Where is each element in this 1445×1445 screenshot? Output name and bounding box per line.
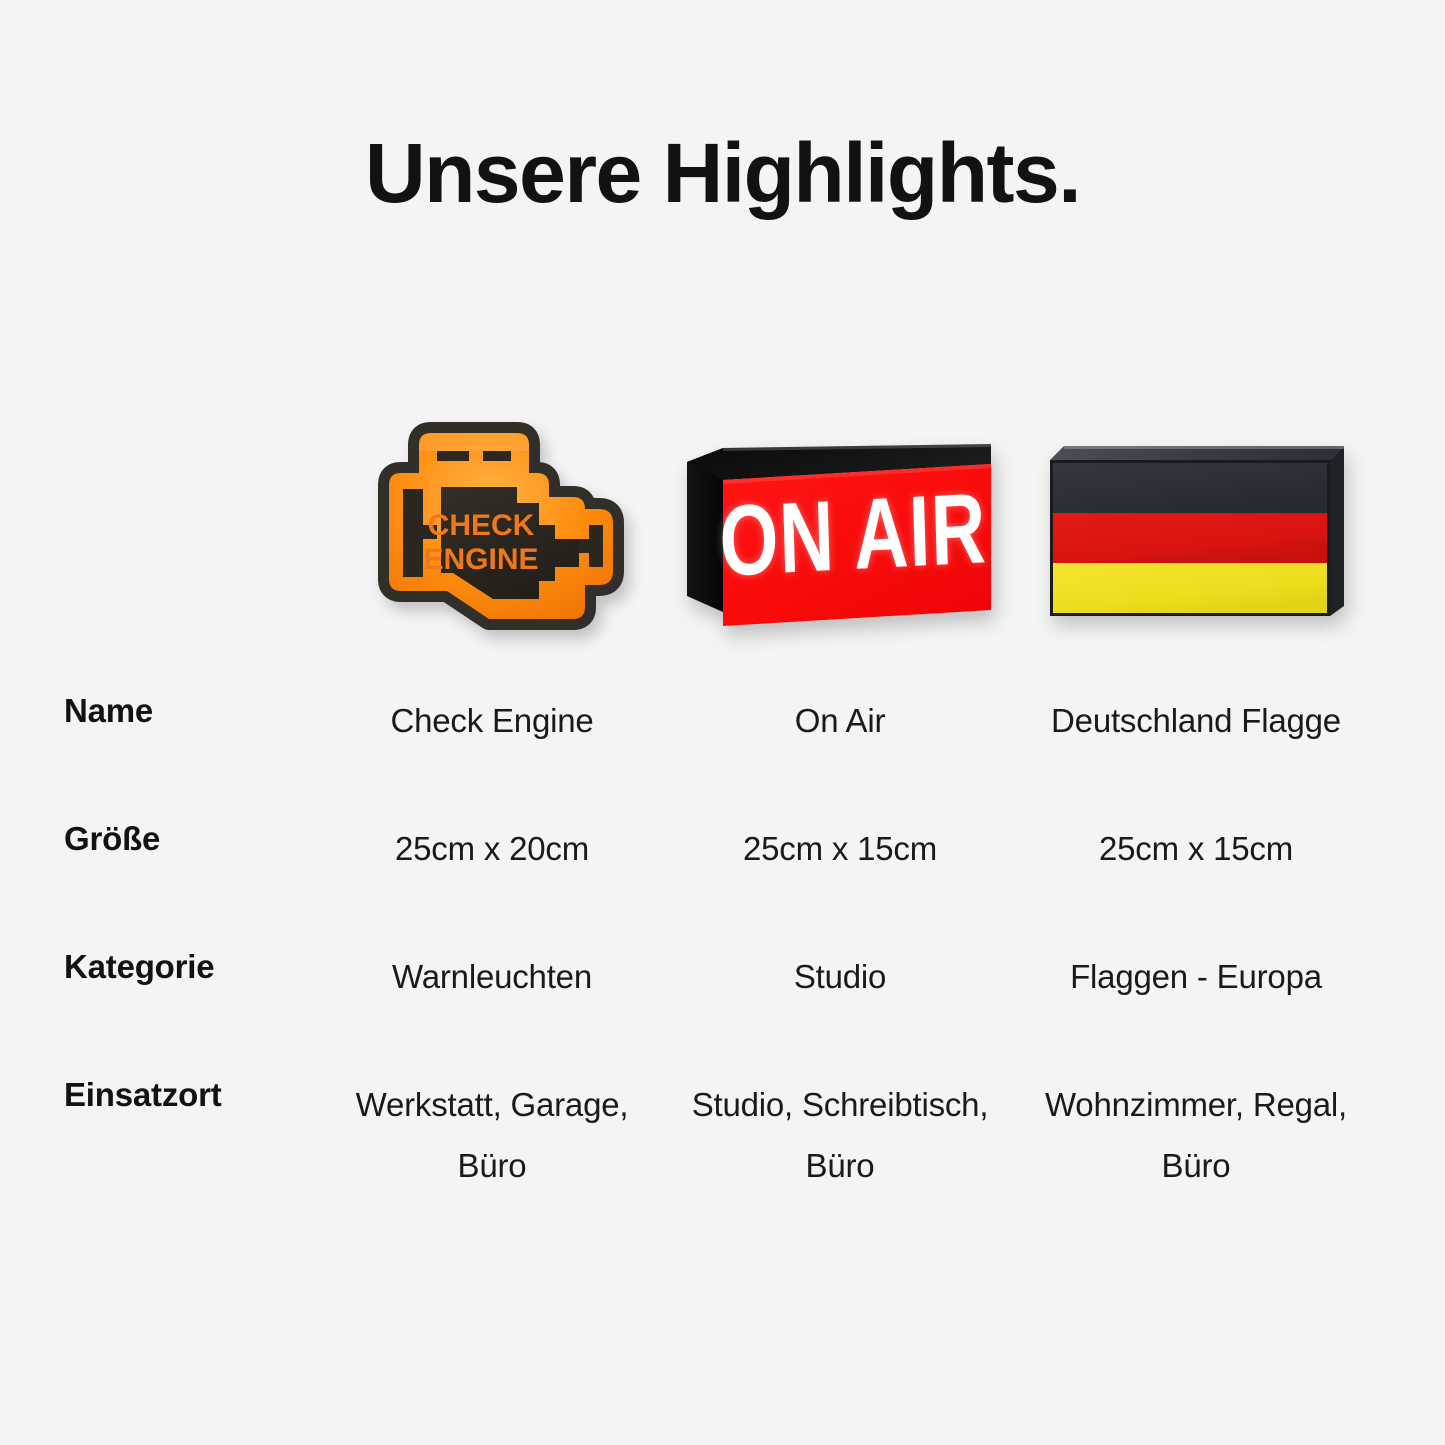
- check-engine-text-line2: ENGINE: [423, 543, 538, 576]
- row-value-einsatzort-on-air: Studio, Schreibtisch, Büro: [666, 1074, 1014, 1196]
- page-title: Unsere Highlights.: [0, 131, 1445, 215]
- spec-table: Name Check Engine On Air Deutschland Fla…: [0, 690, 1445, 1224]
- table-row: Kategorie Warnleuchten Studio Flaggen - …: [0, 946, 1445, 1074]
- product-image-cell-deutschland-flagge[interactable]: [1014, 400, 1382, 670]
- row-value-einsatzort-deutschland-flagge: Wohnzimmer, Regal, Büro: [1010, 1074, 1382, 1196]
- germany-flag-lightbox-icon[interactable]: [1042, 430, 1354, 640]
- row-value-kategorie-on-air: Studio: [666, 946, 1014, 1007]
- row-value-kategorie-check-engine: Warnleuchten: [318, 946, 666, 1007]
- table-row: Größe 25cm x 20cm 25cm x 15cm 25cm x 15c…: [0, 818, 1445, 946]
- check-engine-text-line1: CHECK: [428, 509, 535, 542]
- row-value-name-on-air: On Air: [666, 690, 1014, 751]
- row-label-einsatzort: Einsatzort: [64, 1074, 314, 1116]
- product-image-row: CHECK ENGINE: [0, 400, 1445, 670]
- product-image-cell-on-air[interactable]: ON AIR: [666, 400, 1014, 670]
- table-row: Name Check Engine On Air Deutschland Fla…: [0, 690, 1445, 818]
- row-value-name-check-engine: Check Engine: [318, 690, 666, 751]
- table-row: Einsatzort Werkstatt, Garage, Büro Studi…: [0, 1074, 1445, 1224]
- row-value-einsatzort-check-engine: Werkstatt, Garage, Büro: [318, 1074, 666, 1196]
- row-value-groesse-check-engine: 25cm x 20cm: [318, 818, 666, 879]
- row-label-kategorie: Kategorie: [64, 946, 314, 988]
- row-value-kategorie-deutschland-flagge: Flaggen - Europa: [1010, 946, 1382, 1007]
- row-label-groesse: Größe: [64, 818, 314, 860]
- on-air-lightbox-icon[interactable]: ON AIR: [679, 430, 1001, 640]
- check-engine-lamp-icon[interactable]: CHECK ENGINE: [341, 421, 643, 649]
- row-value-name-deutschland-flagge: Deutschland Flagge: [1010, 690, 1382, 751]
- row-label-name: Name: [64, 690, 314, 732]
- row-value-groesse-deutschland-flagge: 25cm x 15cm: [1010, 818, 1382, 879]
- product-image-cell-check-engine[interactable]: CHECK ENGINE: [318, 400, 666, 670]
- row-value-groesse-on-air: 25cm x 15cm: [666, 818, 1014, 879]
